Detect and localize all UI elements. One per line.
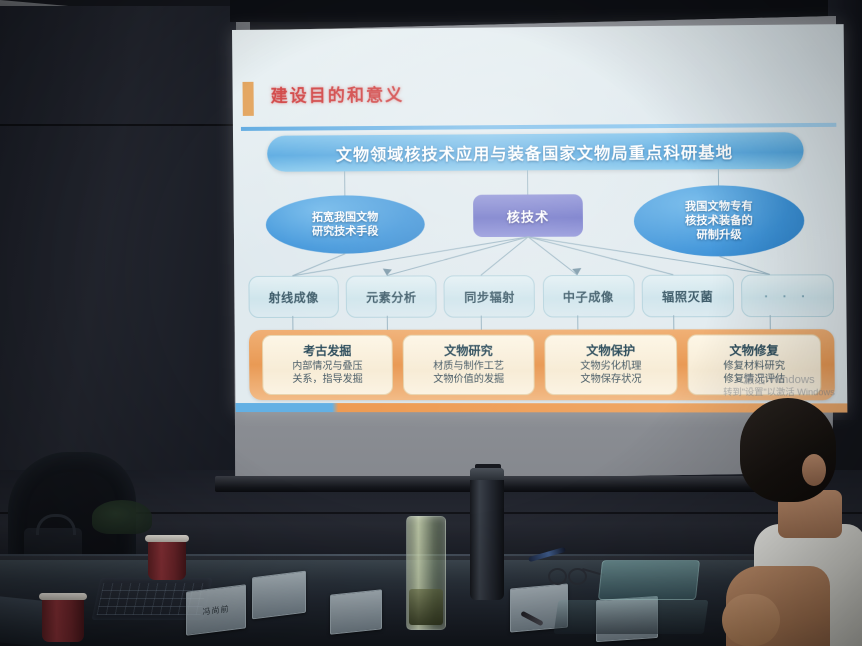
application-card: 考古发掘 内部情况与叠压关系，指导发掘 — [262, 335, 393, 395]
diagram-root-node: 文物领域核技术应用与装备国家文物局重点科研基地 — [267, 132, 804, 172]
tablet — [598, 560, 700, 600]
eyeglasses — [548, 568, 594, 582]
paper-cup — [42, 598, 84, 642]
attendee-hand — [722, 594, 780, 646]
left-wall — [0, 6, 236, 476]
conference-room-scene: 建设目的和意义 — [0, 0, 862, 646]
application-detail: 材质与制作工艺文物价值的发掘 — [433, 360, 504, 386]
attendee — [726, 398, 862, 646]
application-card: 文物保护 文物劣化机理文物保存状况 — [544, 334, 677, 395]
technique-chip: 射线成像 — [248, 276, 339, 318]
watermark-line-2: 转到"设置"以激活 Windows — [723, 386, 835, 398]
plant — [92, 500, 152, 534]
tray — [554, 600, 709, 634]
technique-chip-row: 射线成像 元素分析 同步辐射 中子成像 辐照灭菌 · · · — [248, 274, 834, 316]
paper-cup — [148, 540, 186, 580]
technique-chip: 元素分析 — [346, 275, 437, 317]
thermos-bottle — [470, 468, 504, 600]
goal-left-label: 拓宽我国文物研究技术手段 — [312, 210, 379, 238]
watermark-line-1: 激活 Windows — [723, 374, 835, 386]
technique-chip: 中子成像 — [542, 275, 634, 318]
diagram-core-node: 核技术 — [473, 194, 583, 237]
application-heading: 文物保护 — [586, 344, 635, 359]
title-accent-bar — [242, 82, 253, 116]
diagram-goal-right: 我国文物专有核技术装备的研制升级 — [634, 185, 805, 257]
technique-chip-ellipsis: · · · — [741, 274, 834, 317]
nameplate: 冯尚前 — [186, 584, 246, 635]
technique-chip: 辐照灭菌 — [641, 275, 734, 318]
nameplate — [330, 589, 382, 634]
application-detail: 内部情况与叠压关系，指导发掘 — [292, 360, 363, 386]
glass-tea-tumbler — [406, 516, 446, 630]
slide-section-title: 建设目的和意义 — [271, 81, 405, 107]
presentation-slide: 建设目的和意义 — [232, 24, 847, 412]
diagram-goal-left: 拓宽我国文物研究技术手段 — [266, 195, 425, 254]
goal-right-label: 我国文物专有核技术装备的研制升级 — [685, 199, 753, 242]
application-heading: 文物修复 — [729, 343, 779, 358]
technique-chip: 同步辐射 — [444, 275, 536, 318]
nameplate — [252, 571, 306, 620]
application-heading: 考古发掘 — [303, 344, 351, 359]
windows-activation-watermark: 激活 Windows 转到"设置"以激活 Windows — [723, 374, 835, 398]
attendee-head — [740, 398, 836, 502]
application-detail: 文物劣化机理文物保存状况 — [580, 360, 641, 386]
attendee-ear — [802, 454, 826, 486]
title-underline — [241, 123, 836, 131]
application-card: 文物研究 材质与制作工艺文物价值的发掘 — [403, 335, 535, 396]
application-heading: 文物研究 — [444, 344, 493, 359]
